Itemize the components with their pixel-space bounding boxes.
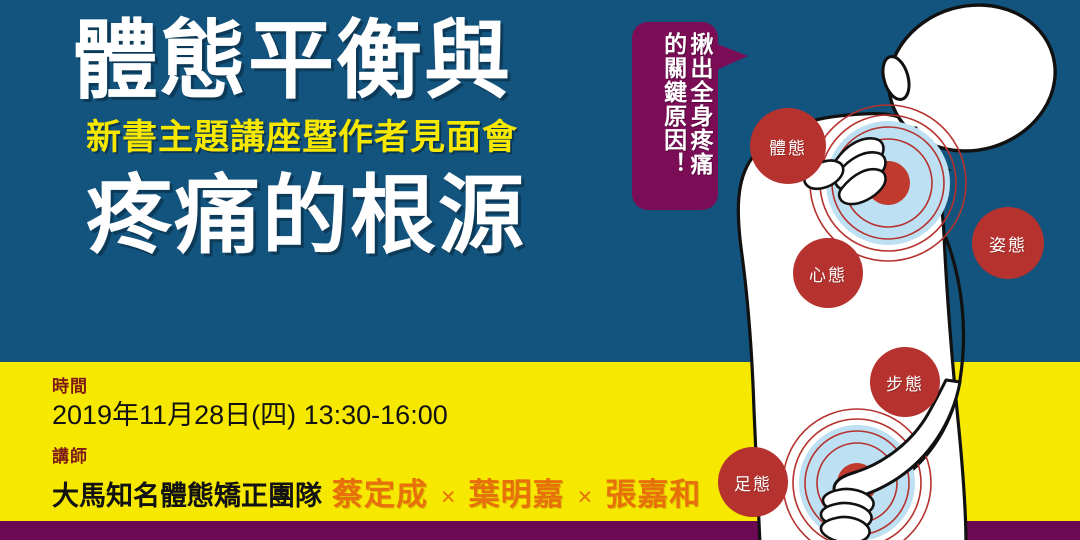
name-separator-1: × — [438, 483, 459, 512]
speech-bubble-line-2: 的關鍵原因！ — [661, 32, 685, 176]
pain-label-xintai[interactable]: 心態 — [793, 238, 863, 308]
name-separator-2: × — [575, 483, 596, 512]
headline-block: 體態平衡與 新書主題講座暨作者見面會 疼痛的根源 — [72, 18, 612, 259]
poster-canvas: 體態 姿態 心態 步態 足態 體態平衡與 新書主題講座暨作者見面會 疼痛的根源 … — [0, 0, 1080, 540]
speaker-label: 講師 — [52, 448, 772, 467]
speaker-name-2: 葉明嘉 — [469, 469, 565, 514]
time-label: 時間 — [52, 378, 772, 397]
event-info-block: 時間 2019年11月28日(四) 13:30-16:00 講師 大馬知名體態矯… — [52, 378, 772, 514]
speaker-team: 大馬知名體態矯正團隊 — [52, 474, 322, 513]
pain-label-text: 步態 — [886, 370, 924, 395]
speaker-row: 講師 大馬知名體態矯正團隊 蔡定成 × 葉明嘉 × 張嘉和 — [52, 448, 772, 514]
event-subtitle: 新書主題講座暨作者見面會 — [86, 120, 612, 155]
speaker-name-1: 蔡定成 — [332, 469, 428, 514]
pain-label-text: 體態 — [769, 134, 807, 159]
title-line-1: 體態平衡與 — [72, 18, 612, 104]
pain-label-zitai[interactable]: 姿態 — [972, 207, 1044, 279]
speech-bubble-line-1: 揪出全身疼痛 — [688, 32, 712, 176]
time-row: 時間 2019年11月28日(四) 13:30-16:00 — [52, 378, 772, 432]
pain-label-butai[interactable]: 步態 — [870, 347, 940, 417]
speaker-name-3: 張嘉和 — [605, 469, 701, 514]
pain-label-text: 心態 — [809, 261, 847, 286]
pain-label-titai[interactable]: 體態 — [750, 108, 826, 184]
speaker-value: 大馬知名體態矯正團隊 蔡定成 × 葉明嘉 × 張嘉和 — [52, 469, 772, 514]
pain-label-text: 姿態 — [989, 231, 1027, 256]
title-line-2: 疼痛的根源 — [86, 173, 612, 259]
time-value: 2019年11月28日(四) 13:30-16:00 — [52, 399, 772, 433]
speech-bubble: 揪出全身疼痛 的關鍵原因！ — [632, 22, 718, 210]
background-band-purple — [0, 521, 1080, 540]
